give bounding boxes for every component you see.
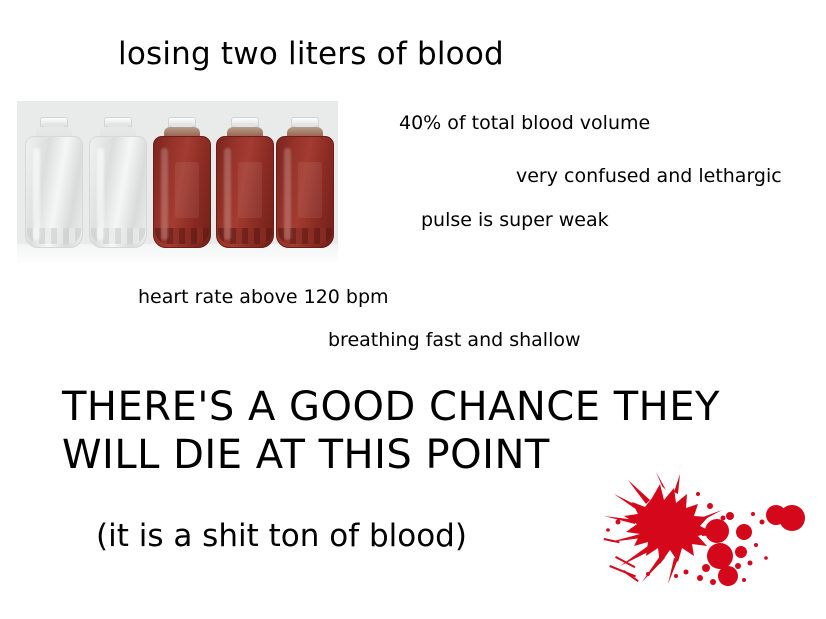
bottle-highlight xyxy=(224,148,231,240)
bottle-4-blood xyxy=(216,117,274,248)
fact-weak-pulse: pulse is super weak xyxy=(421,209,609,231)
parenthetical-note: (it is a shit ton of blood) xyxy=(96,518,467,554)
bottle-highlight xyxy=(33,148,40,240)
bottle-label-ghost xyxy=(238,162,262,218)
headline-line-1: THERE'S A GOOD CHANCE THEY xyxy=(62,383,720,431)
bottle-5-blood xyxy=(276,117,334,248)
bottle-1-empty xyxy=(25,117,83,248)
bottle-highlight xyxy=(284,148,291,240)
page-title: losing two liters of blood xyxy=(118,36,504,72)
meme-slide: losing two liters of blood xyxy=(0,0,826,619)
fact-blood-volume: 40% of total blood volume xyxy=(399,112,650,134)
fact-confused-lethargic: very confused and lethargic xyxy=(516,165,782,187)
five-one-liter-bottles-photo xyxy=(17,101,338,262)
fact-breathing: breathing fast and shallow xyxy=(328,329,581,351)
bottle-label-ghost xyxy=(175,162,199,218)
bottle-3-blood xyxy=(153,117,211,248)
blood-splatter-icon xyxy=(590,470,820,600)
bottle-2-empty xyxy=(89,117,147,248)
bottle-highlight xyxy=(161,148,168,240)
bottle-label-ghost xyxy=(298,162,322,218)
fact-heart-rate: heart rate above 120 bpm xyxy=(138,286,389,308)
headline-block: THERE'S A GOOD CHANCE THEY WILL DIE AT T… xyxy=(62,383,720,479)
bottle-highlight xyxy=(97,148,104,240)
